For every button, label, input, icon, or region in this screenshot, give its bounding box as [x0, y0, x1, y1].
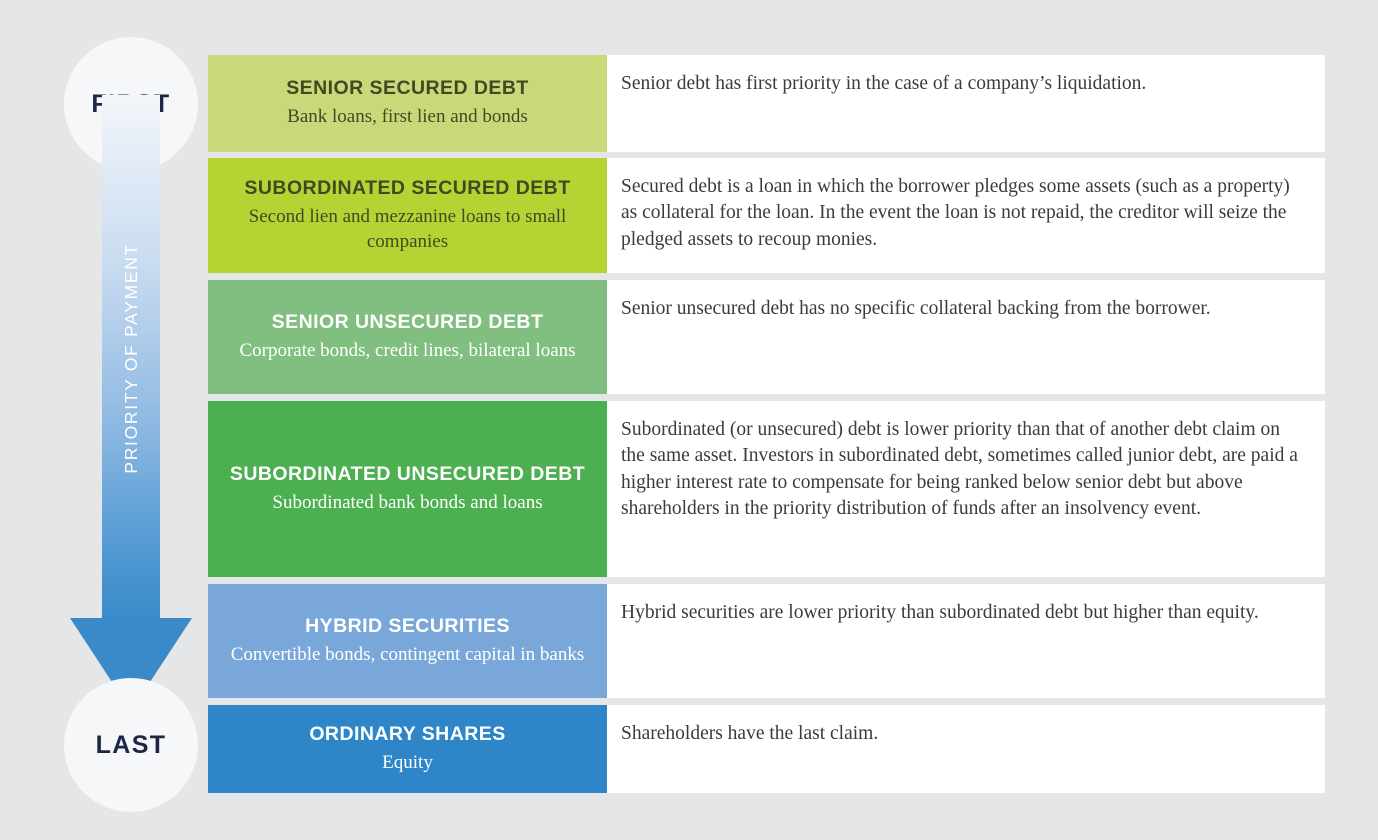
row-category: SENIOR SECURED DEBT Bank loans, first li… [208, 55, 607, 152]
row-description: Shareholders have the last claim. [607, 705, 1325, 793]
row-category: SUBORDINATED UNSECURED DEBT Subordinated… [208, 401, 607, 577]
table-row: SENIOR SECURED DEBT Bank loans, first li… [208, 55, 1325, 152]
priority-arrow-shaft [102, 95, 160, 622]
row-subtitle: Bank loans, first lien and bonds [287, 104, 528, 129]
row-category: HYBRID SECURITIES Convertible bonds, con… [208, 584, 607, 698]
table-row: SENIOR UNSECURED DEBT Corporate bonds, c… [208, 280, 1325, 394]
row-subtitle: Equity [382, 750, 433, 775]
priority-axis: FIRST PRIORITY OF PAYMENT LAST [0, 0, 208, 840]
row-subtitle: Subordinated bank bonds and loans [272, 490, 542, 515]
row-subtitle: Corporate bonds, credit lines, bilateral… [239, 338, 575, 363]
row-description: Senior unsecured debt has no specific co… [607, 280, 1325, 394]
row-category: SUBORDINATED SECURED DEBT Second lien an… [208, 158, 607, 273]
row-title: ORDINARY SHARES [309, 723, 505, 747]
row-description: Senior debt has first priority in the ca… [607, 55, 1325, 152]
row-title: HYBRID SECURITIES [305, 615, 510, 639]
row-description: Subordinated (or unsecured) debt is lowe… [607, 401, 1325, 577]
capital-structure-rows: SENIOR SECURED DEBT Bank loans, first li… [208, 0, 1378, 840]
diagram-canvas: FIRST PRIORITY OF PAYMENT LAST SENIOR SE… [0, 0, 1378, 840]
row-category: ORDINARY SHARES Equity [208, 705, 607, 793]
row-title: SUBORDINATED SECURED DEBT [244, 177, 570, 201]
row-subtitle: Convertible bonds, contingent capital in… [231, 642, 585, 667]
table-row: ORDINARY SHARES Equity Shareholders have… [208, 705, 1325, 793]
row-subtitle: Second lien and mezzanine loans to small… [222, 204, 593, 255]
row-title: SENIOR UNSECURED DEBT [272, 311, 544, 335]
row-category: SENIOR UNSECURED DEBT Corporate bonds, c… [208, 280, 607, 394]
row-description: Hybrid securities are lower priority tha… [607, 584, 1325, 698]
last-badge: LAST [64, 678, 198, 812]
row-description: Secured debt is a loan in which the borr… [607, 158, 1325, 273]
table-row: SUBORDINATED UNSECURED DEBT Subordinated… [208, 401, 1325, 577]
row-title: SENIOR SECURED DEBT [286, 77, 529, 101]
table-row: SUBORDINATED SECURED DEBT Second lien an… [208, 158, 1325, 273]
last-badge-label: LAST [96, 731, 167, 760]
table-row: HYBRID SECURITIES Convertible bonds, con… [208, 584, 1325, 698]
row-title: SUBORDINATED UNSECURED DEBT [230, 463, 585, 487]
